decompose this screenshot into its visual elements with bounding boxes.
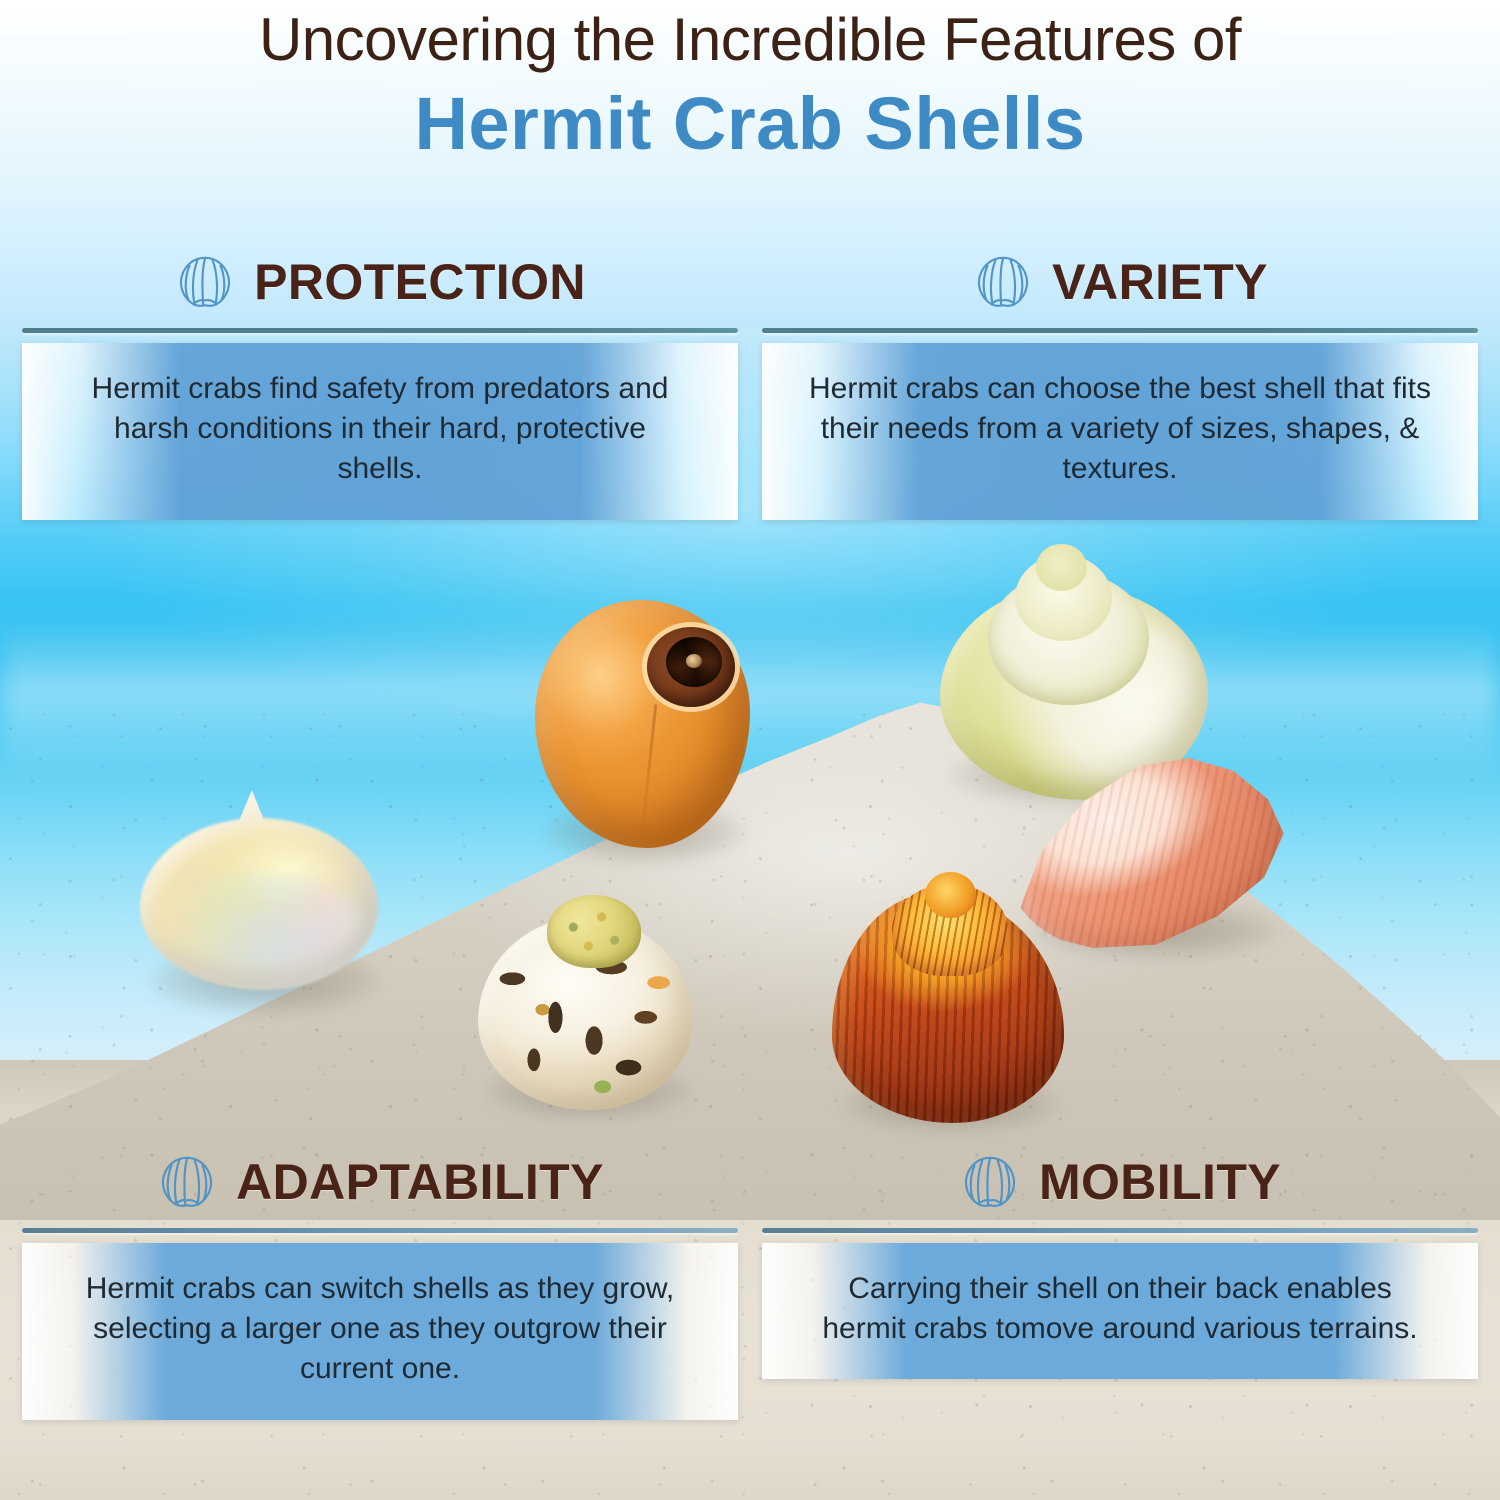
- speckled-cream-shell: [478, 895, 693, 1110]
- card-divider: [22, 1228, 738, 1233]
- card-header: ADAPTABILITY: [22, 1146, 738, 1218]
- scallop-shell-icon: [959, 1153, 1021, 1211]
- orange-moon-snail-shell: [535, 600, 750, 848]
- card-divider: [762, 1228, 1478, 1233]
- scallop-shell-icon: [156, 1153, 218, 1211]
- title-line-2: Hermit Crab Shells: [0, 83, 1500, 164]
- card-description: Carrying their shell on their back enabl…: [762, 1243, 1478, 1379]
- shell-spiral: [666, 637, 722, 687]
- card-header: PROTECTION: [22, 246, 738, 318]
- card-description: Hermit crabs find safety from predators …: [22, 343, 738, 520]
- feature-card-mobility: MOBILITY Carrying their shell on their b…: [762, 1146, 1478, 1379]
- poster-title: Uncovering the Incredible Features of He…: [0, 8, 1500, 164]
- shell-sheen: [154, 874, 359, 966]
- card-divider: [22, 328, 738, 333]
- card-header: MOBILITY: [762, 1146, 1478, 1218]
- card-description: Hermit crabs can choose the best shell t…: [762, 343, 1478, 520]
- card-description: Hermit crabs can switch shells as they g…: [22, 1243, 738, 1420]
- title-line-1: Uncovering the Incredible Features of: [0, 8, 1500, 71]
- iridescent-pearl-shell: [140, 790, 378, 990]
- card-header: VARIETY: [762, 246, 1478, 318]
- card-heading: PROTECTION: [254, 253, 586, 311]
- card-heading: MOBILITY: [1039, 1153, 1281, 1211]
- scallop-shell-icon: [972, 253, 1034, 311]
- card-heading: ADAPTABILITY: [236, 1153, 604, 1211]
- infographic-poster: Uncovering the Incredible Features of He…: [0, 0, 1500, 1500]
- shell-apex: [925, 872, 976, 918]
- scallop-shell-icon: [174, 253, 236, 311]
- red-orange-turban-shell: [832, 893, 1064, 1123]
- shell-apex: [547, 895, 642, 968]
- card-divider: [762, 328, 1478, 333]
- feature-card-adaptability: ADAPTABILITY Hermit crabs can switch she…: [22, 1146, 738, 1420]
- feature-card-protection: PROTECTION Hermit crabs find safety from…: [22, 246, 738, 520]
- feature-card-variety: VARIETY Hermit crabs can choose the best…: [762, 246, 1478, 520]
- card-heading: VARIETY: [1052, 253, 1268, 311]
